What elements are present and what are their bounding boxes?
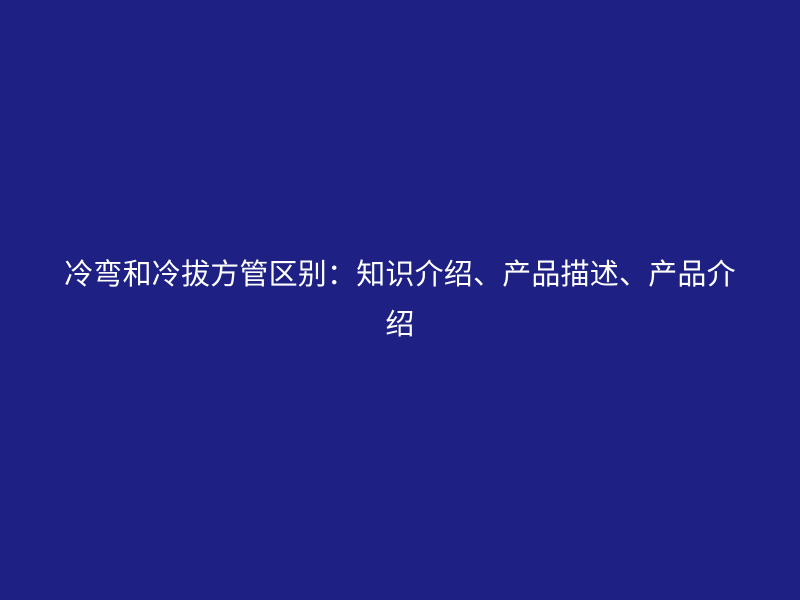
title-block: 冷弯和冷拔方管区别：知识介绍、产品描述、产品介绍: [55, 249, 745, 349]
page-title: 冷弯和冷拔方管区别：知识介绍、产品描述、产品介绍: [55, 249, 745, 349]
title-banner: 冷弯和冷拔方管区别：知识介绍、产品描述、产品介绍: [0, 0, 800, 600]
